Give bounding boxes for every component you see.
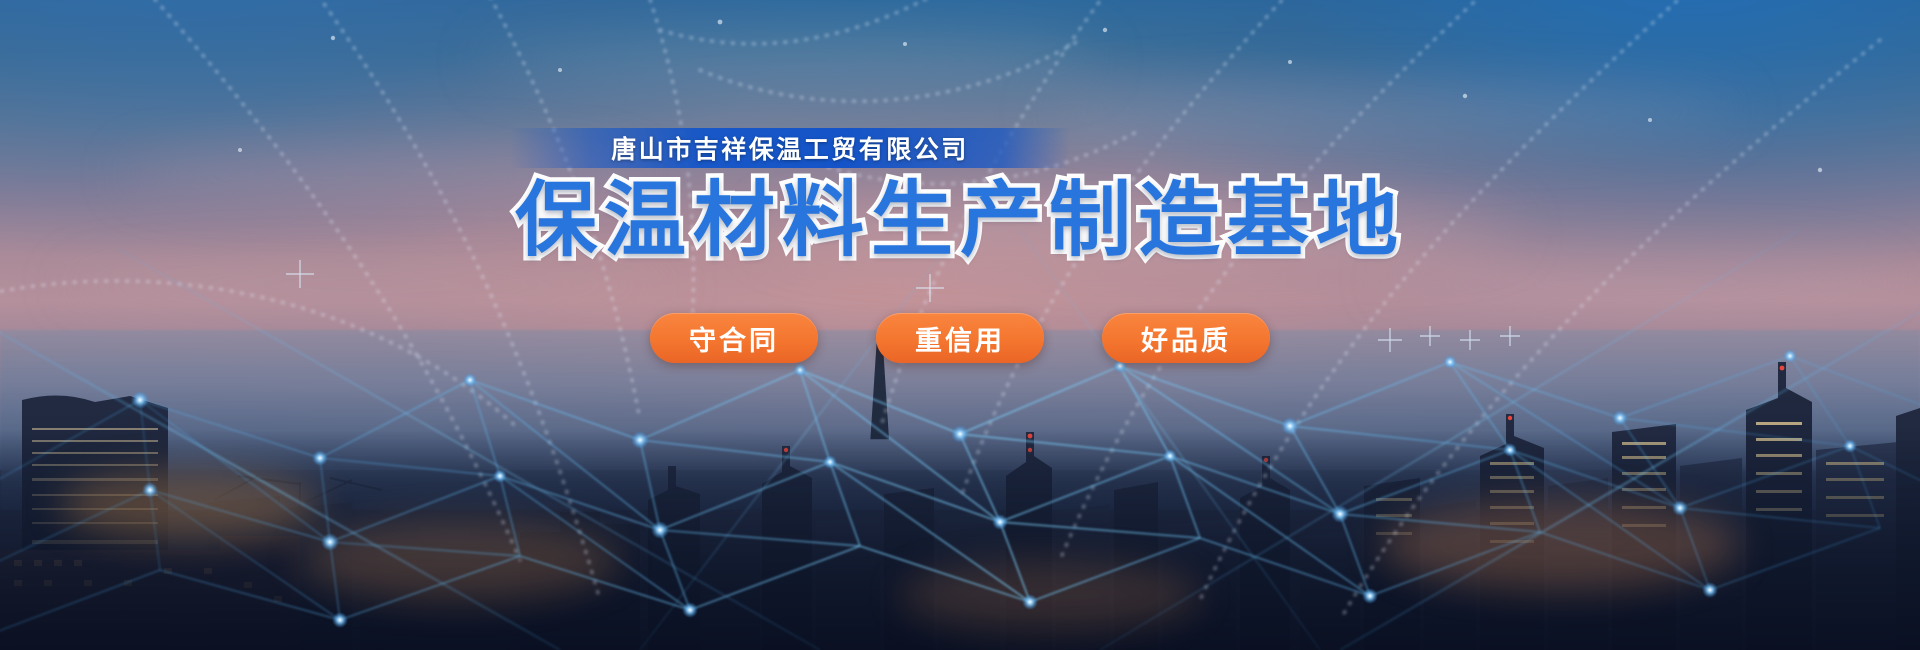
hero-banner: 唐山市吉祥保温工贸有限公司 保温材料生产制造基地 守合同 重信用 好品质 [0,0,1920,650]
badge-shou-he-tong[interactable]: 守合同 [650,313,818,363]
page-title: 保温材料生产制造基地 [0,178,1920,264]
badge-zhong-xin-yong[interactable]: 重信用 [876,313,1044,363]
badge-hao-pin-zhi[interactable]: 好品质 [1102,313,1270,363]
company-name: 唐山市吉祥保温工贸有限公司 [611,130,969,166]
company-name-ribbon: 唐山市吉祥保温工贸有限公司 [510,128,1070,168]
banner-content: 唐山市吉祥保温工贸有限公司 保温材料生产制造基地 守合同 重信用 好品质 [0,0,1920,650]
badge-row: 守合同 重信用 好品质 [0,313,1920,363]
